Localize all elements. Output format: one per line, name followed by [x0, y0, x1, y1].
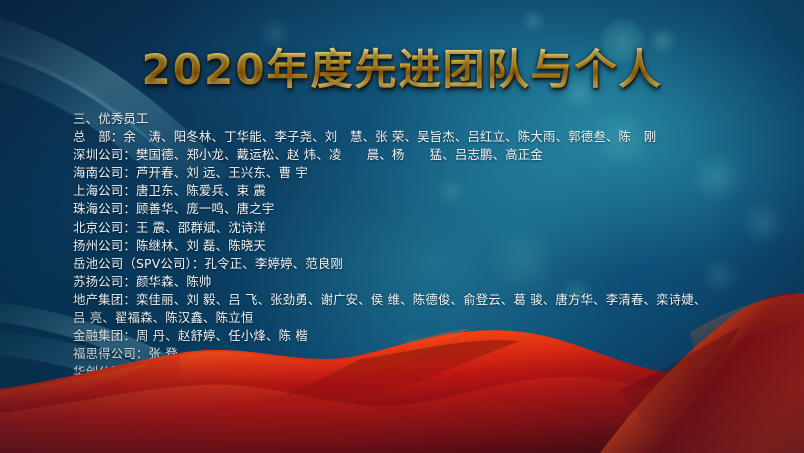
list-item: 珠海公司：顾善华、庞一鸣、唐之宇 — [73, 200, 773, 218]
list-item: 北京公司：王 震、邵群斌、沈诗洋 — [73, 219, 773, 237]
list-item-continuation: 吕 亮、翟福森、陈汉鑫、陈立恒 — [73, 309, 773, 327]
list-item: 海南公司：芦开春、刘 远、王兴东、曹 宇 — [73, 164, 773, 182]
list-item: 总 部：余 涛、阳冬林、丁华能、李子尧、刘 慧、张 荣、吴旨杰、吕红立、陈大雨、… — [73, 128, 773, 146]
bokeh-circle — [520, 8, 546, 34]
list-item: 扬州公司：陈继林、刘 磊、陈晓天 — [73, 237, 773, 255]
list-item: 深圳公司：樊国德、郑小龙、戴运松、赵 炜、凌 晨、杨 猛、吕志鹏、高正金 — [73, 146, 773, 164]
slide-title: 2020年度先进团队与个人 — [0, 44, 804, 96]
presentation-slide: 2020年度先进团队与个人 2020年度先进团队与个人 三、优秀员工 总 部：余… — [0, 0, 804, 453]
list-item: 金融集团：周 丹、赵舒婷、任小烽、陈 楷 — [73, 327, 773, 345]
list-item: 苏扬公司：颜华森、陈帅 — [73, 273, 773, 291]
list-item: 三、优秀员工 — [73, 110, 773, 128]
list-item: 地产集团：栾佳丽、刘 毅、吕 飞、张劲勇、谢广安、侯 维、陈德俊、俞登云、葛 骏… — [73, 291, 773, 309]
employee-list: 三、优秀员工 总 部：余 涛、阳冬林、丁华能、李子尧、刘 慧、张 荣、吴旨杰、吕… — [73, 110, 773, 418]
list-item: 岳池公司（SPV公司）：孔令正、李婷婷、范良刚 — [73, 255, 773, 273]
list-item: 华创公司：李波田 — [73, 363, 773, 381]
list-item: 福思得公司：张 登 — [73, 345, 773, 363]
list-item: 检测中心：刘 涛 — [73, 381, 773, 399]
list-item: 咨询公司：李 艳 — [73, 400, 773, 418]
list-item: 上海公司：唐卫东、陈爱兵、束 震 — [73, 182, 773, 200]
